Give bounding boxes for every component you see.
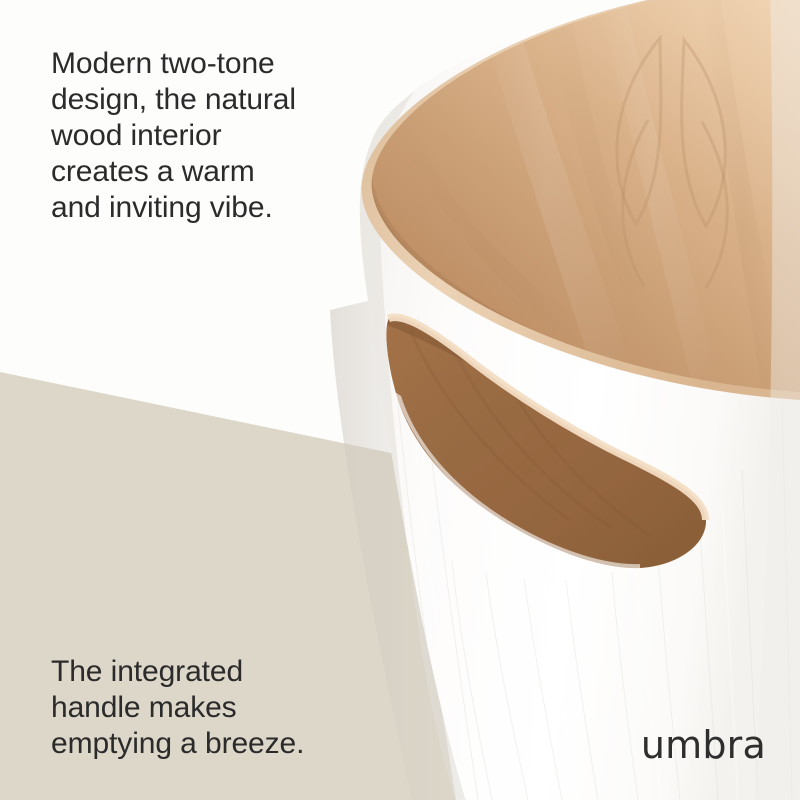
product-feature-image: Modern two-tone design, the natural wood…	[0, 0, 800, 800]
headline-copy-top: Modern two-tone design, the natural wood…	[51, 46, 351, 226]
umbra-brand-wordmark: umbra	[641, 726, 766, 764]
headline-copy-bottom: The integrated handle makes emptying a b…	[51, 654, 351, 762]
